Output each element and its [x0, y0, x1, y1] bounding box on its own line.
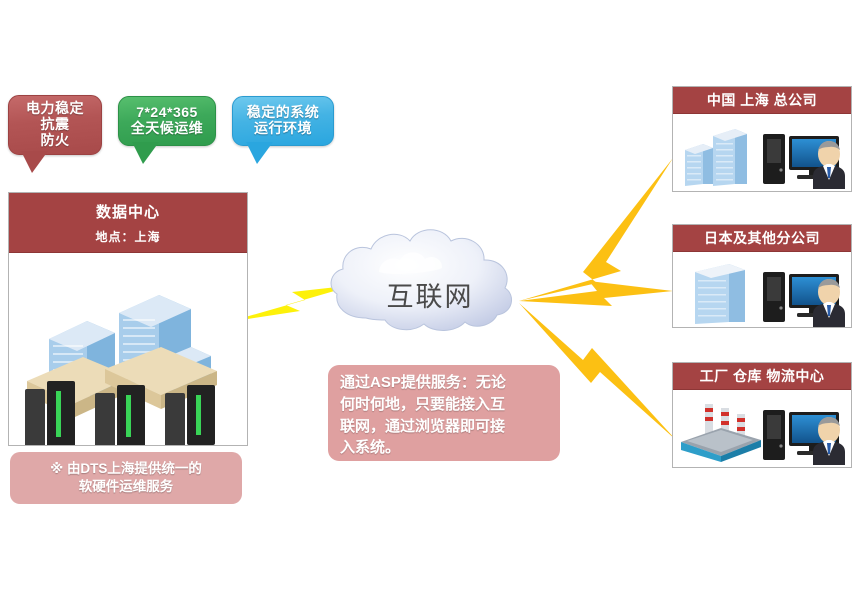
data-center-header: 数据中心 地点：上海: [9, 193, 247, 253]
data-center-illustration: [9, 253, 247, 445]
site-panel-headquarters: 中国 上海 总公司: [672, 86, 852, 192]
server-rack-icon: [763, 272, 785, 322]
callout-tail: [132, 142, 159, 164]
branch-office-illustration: [673, 252, 851, 327]
callout-line: 电力稳定: [26, 101, 84, 117]
asp-line: 何时何地，只要能接入互: [340, 394, 550, 416]
note-line: 软硬件运维服务: [79, 478, 174, 496]
data-center-panel: 数据中心 地点：上海: [8, 192, 248, 446]
server-rack-icon: [763, 134, 785, 184]
site-title: 中国 上海 总公司: [673, 87, 851, 114]
server-rack-icon: [763, 410, 785, 460]
callout-stable-environment: 稳定的系统 运行环境: [232, 96, 334, 146]
diagram-canvas: 电力稳定 抗震 防火 7*24*365 全天候运维 稳定的系统 运行环境 数据中…: [0, 0, 860, 590]
callout-line: 稳定的系统: [247, 105, 320, 121]
asp-service-note: 通过ASP提供服务：无论 何时何地，只要能接入互 联网，通过浏览器即可接 入系统…: [328, 365, 560, 461]
callout-line: 7*24*365: [136, 105, 198, 121]
site-title: 日本及其他分公司: [673, 225, 851, 252]
site-panel-factory-logistics: 工厂 仓库 物流中心: [672, 362, 852, 468]
callout-tail: [246, 142, 273, 164]
data-center-note: ※ 由DTS上海提供统一的 软硬件运维服务: [10, 452, 242, 504]
lightning-bolt-middle-right: [519, 281, 673, 306]
asp-line: 通过ASP提供服务：无论: [340, 372, 550, 394]
factory-illustration: [673, 390, 851, 465]
note-line: ※ 由DTS上海提供统一的: [50, 460, 202, 478]
callout-line: 防火: [41, 133, 70, 149]
site-panel-branch-offices: 日本及其他分公司: [672, 224, 852, 328]
callout-247-operations: 7*24*365 全天候运维: [118, 96, 216, 146]
site-title: 工厂 仓库 物流中心: [673, 363, 851, 390]
callout-power-stability: 电力稳定 抗震 防火: [8, 95, 102, 155]
callout-line: 运行环境: [254, 121, 312, 137]
lightning-bolt-upper-right: [519, 158, 673, 301]
headquarters-illustration: [673, 114, 851, 189]
warehouse-icon: [681, 428, 761, 462]
data-center-title: 数据中心: [96, 201, 160, 222]
internet-cloud-label: 互联网: [330, 275, 530, 314]
asp-line: 联网，通过浏览器即可接: [340, 416, 550, 438]
office-tower-icon: [713, 129, 747, 186]
data-center-location: 地点：上海: [95, 228, 160, 245]
asp-line: 入系统。: [340, 437, 550, 459]
callout-line: 全天候运维: [131, 121, 204, 137]
callout-line: 抗震: [41, 117, 70, 133]
callout-tail: [21, 151, 48, 173]
